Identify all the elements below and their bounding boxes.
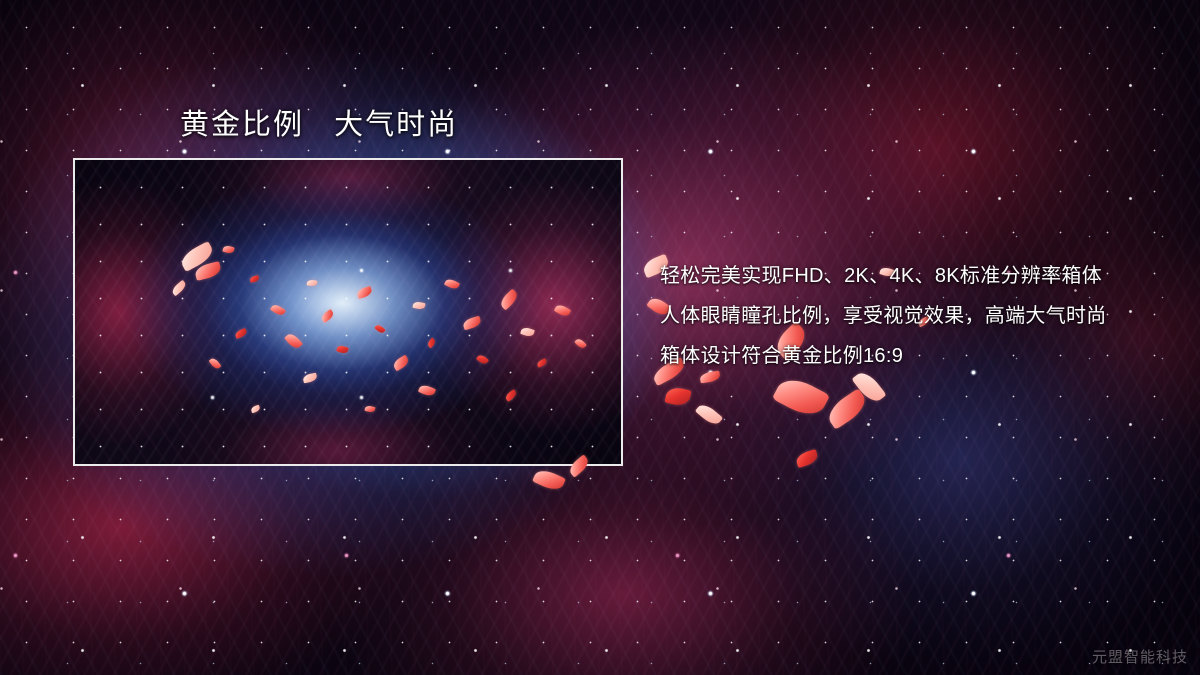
petal-shape xyxy=(772,372,830,422)
slide-title: 黄金比例 大气时尚 xyxy=(180,101,458,143)
company-watermark: 元盟智能科技 xyxy=(1092,646,1188,667)
description-line-2: 人体眼睛瞳孔比例，享受视觉效果，高端大气时尚 xyxy=(660,296,1160,336)
presentation-slide: 黄金比例 大气时尚 轻松完美实现FHD、2K、4K、8K标准分辨率箱体 人体眼睛… xyxy=(0,0,1200,675)
petal-shape xyxy=(664,386,691,408)
petal-shape xyxy=(695,401,723,428)
petal-shape xyxy=(795,449,820,468)
feature-description: 轻松完美实现FHD、2K、4K、8K标准分辨率箱体 人体眼睛瞳孔比例，享受视觉效… xyxy=(660,256,1160,376)
product-image xyxy=(75,160,621,464)
description-line-3: 箱体设计符合黄金比例16:9 xyxy=(660,336,1160,376)
petal-shape xyxy=(532,467,566,494)
product-image-frame xyxy=(73,158,623,466)
photo-starfield xyxy=(75,160,621,464)
description-line-1: 轻松完美实现FHD、2K、4K、8K标准分辨率箱体 xyxy=(660,256,1160,296)
